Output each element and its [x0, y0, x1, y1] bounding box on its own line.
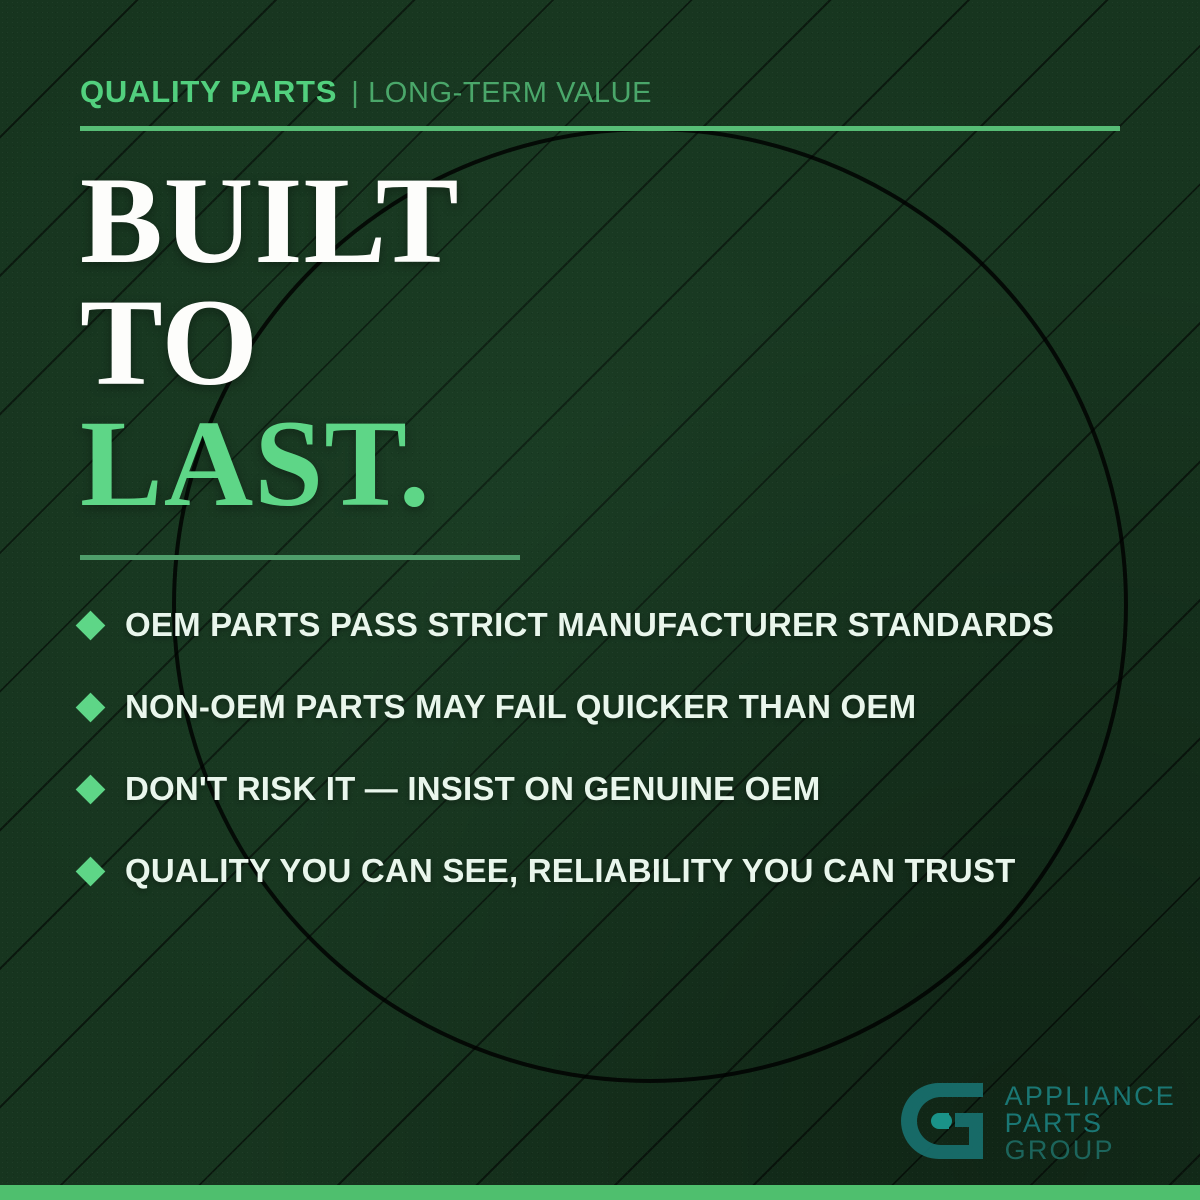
list-item-label: QUALITY YOU CAN SEE, RELIABILITY YOU CAN…	[125, 852, 1016, 890]
brand-word-group: GROUP	[1005, 1137, 1176, 1164]
eyebrow-subtitle: LONG-TERM VALUE	[368, 77, 652, 109]
list-item: QUALITY YOU CAN SEE, RELIABILITY YOU CAN…	[80, 830, 1150, 912]
headline-line-3: LAST.	[80, 403, 460, 525]
headline-line-1: BUILT	[80, 160, 460, 282]
list-item-label: DON'T RISK IT — INSIST ON GENUINE OEM	[125, 770, 820, 808]
eyebrow: QUALITY PARTS | LONG-TERM VALUE	[80, 74, 652, 110]
headline-divider-rule	[80, 555, 520, 560]
g-monogram-icon	[899, 1075, 991, 1172]
diamond-bullet-icon	[76, 610, 106, 640]
eyebrow-separator: |	[351, 77, 359, 109]
bottom-accent-bar	[0, 1185, 1200, 1200]
poster-content: QUALITY PARTS | LONG-TERM VALUE BUILT TO…	[0, 0, 1200, 1200]
eyebrow-strong-label: QUALITY PARTS	[80, 74, 337, 110]
diamond-bullet-icon	[76, 774, 106, 804]
header-divider-rule	[80, 126, 1120, 131]
page-title: BUILT TO LAST.	[80, 160, 460, 525]
diamond-bullet-icon	[76, 692, 106, 722]
brand-logo: APPLIANCE PARTS GROUP	[899, 1075, 1176, 1172]
list-item: NON-OEM PARTS MAY FAIL QUICKER THAN OEM	[80, 666, 1150, 748]
brand-wordmark: APPLIANCE PARTS GROUP	[1005, 1083, 1176, 1164]
list-item: DON'T RISK IT — INSIST ON GENUINE OEM	[80, 748, 1150, 830]
brand-word-appliance: APPLIANCE	[1005, 1083, 1176, 1110]
headline-line-2: TO	[80, 282, 460, 404]
list-item: OEM PARTS PASS STRICT MANUFACTURER STAND…	[80, 584, 1150, 666]
poster-canvas: QUALITY PARTS | LONG-TERM VALUE BUILT TO…	[0, 0, 1200, 1200]
list-item-label: OEM PARTS PASS STRICT MANUFACTURER STAND…	[125, 606, 1054, 644]
list-item-label: NON-OEM PARTS MAY FAIL QUICKER THAN OEM	[125, 688, 916, 726]
brand-word-parts: PARTS	[1005, 1110, 1176, 1137]
diamond-bullet-icon	[76, 856, 106, 886]
eyebrow-light-label: | LONG-TERM VALUE	[351, 77, 652, 110]
benefit-list: OEM PARTS PASS STRICT MANUFACTURER STAND…	[80, 584, 1150, 912]
